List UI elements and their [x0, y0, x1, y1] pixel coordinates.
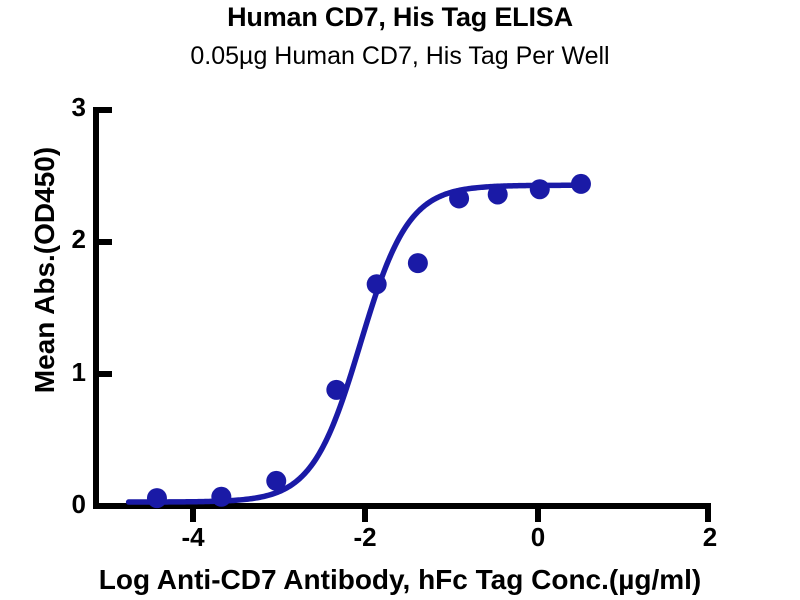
data-point — [488, 184, 508, 204]
data-point — [408, 253, 428, 273]
axes — [93, 107, 711, 522]
data-point — [530, 179, 550, 199]
data-point — [367, 274, 387, 294]
data-point — [211, 487, 231, 507]
data-point — [571, 174, 591, 194]
plot-area — [0, 0, 800, 600]
chart-figure: Human CD7, His Tag ELISA 0.05µg Human CD… — [0, 0, 800, 600]
data-point — [326, 380, 346, 400]
data-series-layer — [129, 174, 591, 508]
data-point — [449, 188, 469, 208]
fit-curve — [129, 185, 585, 502]
data-point — [266, 471, 286, 491]
data-point — [147, 488, 167, 508]
